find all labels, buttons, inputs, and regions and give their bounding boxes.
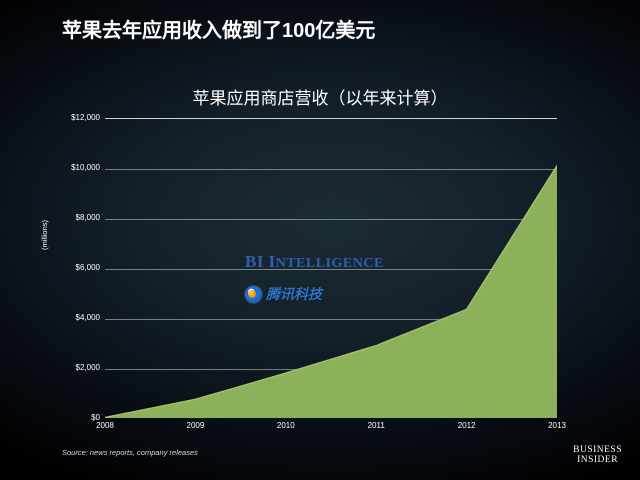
slide-canvas: 苹果去年应用收入做到了100亿美元 苹果应用商店营收（以年来计算） (milli… [0, 0, 640, 480]
source-note: Source: news reports, company releases [62, 448, 198, 457]
y-axis-title: (millions) [40, 220, 49, 250]
bi-intelligence-watermark: BI INTELLIGENCE [245, 252, 384, 272]
x-axis-ticks: 200820092010201120122013 [105, 421, 557, 435]
logo-line-insider: INSIDER [573, 456, 622, 466]
y-axis-tick-label: $6,000 [76, 263, 100, 272]
area-fill [105, 166, 557, 419]
x-axis-tick-label: 2012 [458, 421, 476, 430]
x-axis-tick-label: 2013 [548, 421, 566, 430]
bi-intelligence-rest: NTELLIGENCE [276, 256, 384, 271]
plot-area: BI INTELLIGENCE 腾讯科技 [105, 118, 557, 418]
y-axis-tick-label: $4,000 [76, 313, 100, 322]
x-axis-tick-label: 2008 [96, 421, 114, 430]
x-axis-tick-label: 2011 [368, 421, 385, 430]
y-axis-tick-label: $10,000 [71, 163, 100, 172]
y-axis-tick-label: $8,000 [76, 213, 100, 222]
page-title: 苹果去年应用收入做到了100亿美元 [62, 14, 375, 43]
y-axis-ticks: $0$2,000$4,000$6,000$8,000$10,000$12,000 [56, 118, 100, 418]
bi-intelligence-i: I [268, 252, 275, 271]
tencent-watermark: 腾讯科技 [245, 284, 322, 304]
y-axis-tick-label: $12,000 [71, 113, 100, 122]
x-axis-tick-label: 2010 [277, 421, 295, 430]
chart-title: 苹果应用商店营收（以年来计算） [0, 84, 640, 109]
x-axis-tick-label: 2009 [186, 421, 204, 430]
y-axis-tick-label: $2,000 [76, 363, 100, 372]
business-insider-logo: BUSINESS INSIDER [573, 446, 622, 466]
bi-intelligence-bi: BI [245, 252, 264, 271]
tencent-penguin-icon [245, 286, 262, 303]
tencent-label: 腾讯科技 [266, 284, 322, 304]
